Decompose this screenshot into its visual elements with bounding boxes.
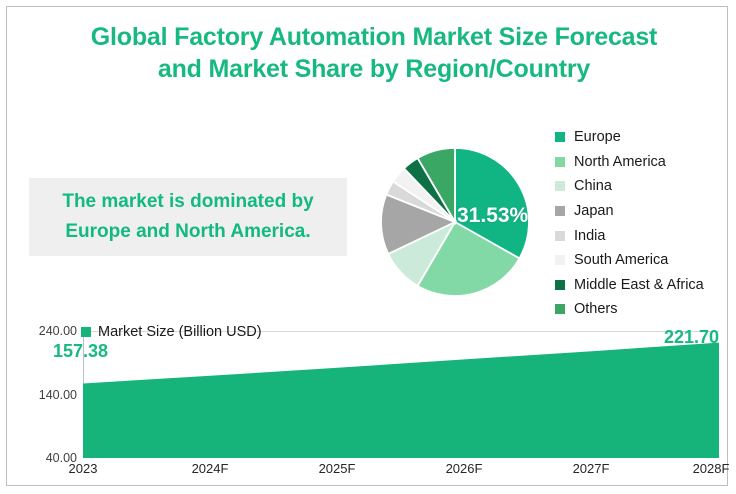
y-tick-label-140: 140.00 xyxy=(21,388,77,402)
legend-swatch-icon-middle-east-africa xyxy=(555,280,565,290)
legend-swatch-icon-japan xyxy=(555,206,565,216)
legend-label-market-size: Market Size (Billion USD) xyxy=(98,324,262,340)
area-chart-legend[interactable]: Market Size (Billion USD) xyxy=(81,324,262,340)
x-tick-label-2024f: 2024F xyxy=(192,461,229,476)
market-share-pie-chart: 31.53% xyxy=(377,144,533,300)
area-series-shape xyxy=(83,331,719,458)
legend-swatch-icon-market-size xyxy=(81,327,91,337)
legend-item-north-america[interactable]: North America xyxy=(555,150,735,175)
infographic-page: Global Factory Automation Market Size Fo… xyxy=(0,0,736,494)
legend-item-south-america[interactable]: South America xyxy=(555,248,735,273)
legend-label-japan: Japan xyxy=(574,203,614,219)
legend-swatch-icon-others xyxy=(555,304,565,314)
legend-label-india: India xyxy=(574,228,605,244)
legend-swatch-icon-south-america xyxy=(555,255,565,265)
x-tick-label-2026f: 2026F xyxy=(446,461,483,476)
pie-slice-label-europe: 31.53% xyxy=(457,204,528,228)
pie-legend: Europe North America China Japan India S… xyxy=(555,125,735,322)
x-tick-label-2027f: 2027F xyxy=(573,461,610,476)
legend-item-middle-east-africa[interactable]: Middle East & Africa xyxy=(555,273,735,298)
page-title: Global Factory Automation Market Size Fo… xyxy=(27,21,721,85)
legend-label-south-america: South America xyxy=(574,252,668,268)
legend-item-europe[interactable]: Europe xyxy=(555,125,735,150)
y-tick-label-240: 240.00 xyxy=(21,324,77,338)
x-tick-label-2025f: 2025F xyxy=(319,461,356,476)
x-tick-label-2028f: 2028F xyxy=(693,461,730,476)
market-size-area-chart: 240.00 140.00 40.00 Market Size (Billion… xyxy=(21,319,727,487)
legend-label-middle-east-africa: Middle East & Africa xyxy=(574,277,704,293)
data-label-end-value: 221.70 xyxy=(664,327,719,348)
x-tick-label-2023: 2023 xyxy=(69,461,98,476)
legend-item-india[interactable]: India xyxy=(555,223,735,248)
legend-label-europe: Europe xyxy=(574,129,621,145)
data-label-start-value: 157.38 xyxy=(53,341,108,362)
legend-item-china[interactable]: China xyxy=(555,174,735,199)
insight-callout: The market is dominated by Europe and No… xyxy=(29,178,347,256)
legend-swatch-icon-north-america xyxy=(555,157,565,167)
legend-label-china: China xyxy=(574,178,612,194)
legend-label-north-america: North America xyxy=(574,154,666,170)
legend-item-japan[interactable]: Japan xyxy=(555,199,735,224)
legend-swatch-icon-europe xyxy=(555,132,565,142)
content-frame: Global Factory Automation Market Size Fo… xyxy=(6,6,728,486)
title-line-1: Global Factory Automation Market Size Fo… xyxy=(27,21,721,53)
legend-label-others: Others xyxy=(574,301,618,317)
callout-line-2: Europe and North America. xyxy=(65,217,310,247)
callout-line-1: The market is dominated by xyxy=(62,187,313,217)
legend-swatch-icon-india xyxy=(555,231,565,241)
legend-swatch-icon-china xyxy=(555,181,565,191)
title-line-2: and Market Share by Region/Country xyxy=(27,53,721,85)
